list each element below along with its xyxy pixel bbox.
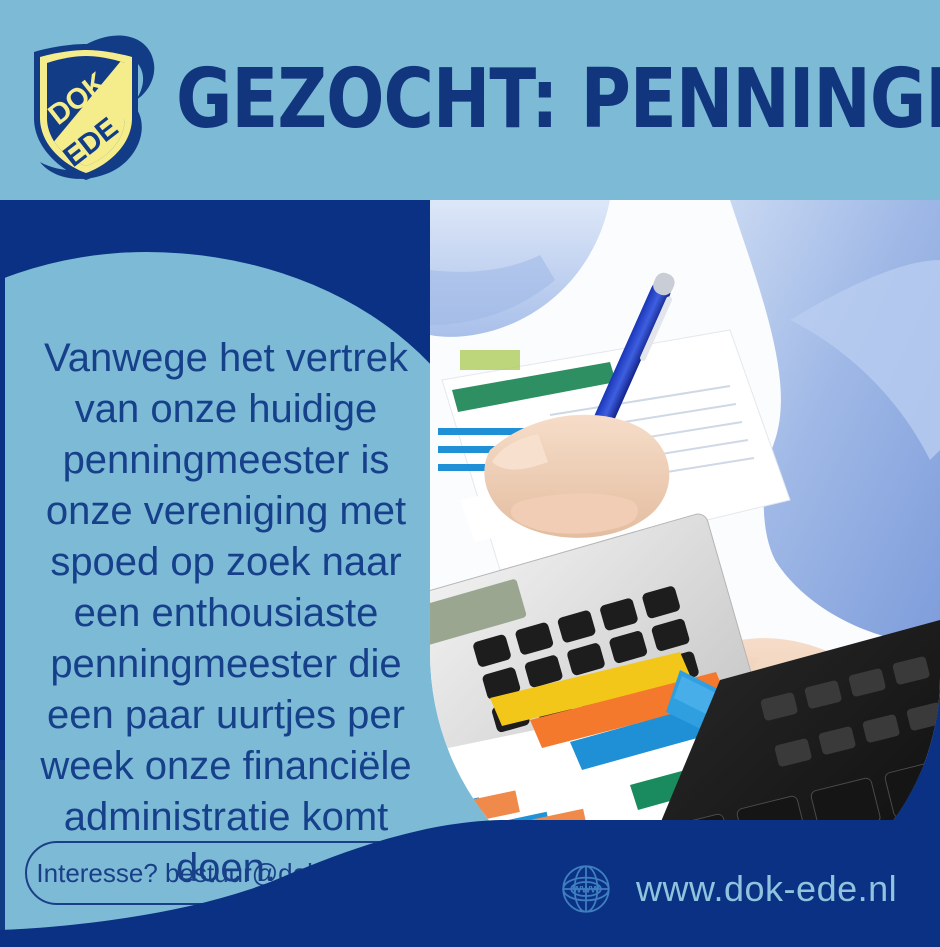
globe-www-label: WWW [572, 885, 600, 896]
dok-ede-shield-logo: DOK EDE [18, 22, 168, 187]
left-edge-accent-lower [0, 760, 5, 947]
contact-pill-button[interactable]: Interesse? bestuur@dok-ede.nl [25, 841, 411, 905]
content-area: X Z Alt Vanwege het vertrek van onze hui… [0, 200, 940, 947]
website-url[interactable]: www.dok-ede.nl [636, 868, 897, 910]
page-title: GEZOCHT: PENNINGMEESTER [176, 44, 883, 162]
shield-logo-svg: DOK EDE [18, 22, 168, 187]
globe-www-icon: WWW [558, 861, 614, 917]
header-bar: DOK EDE GEZOCHT: PENNINGMEESTER [0, 0, 940, 200]
pitch-paragraph: Vanwege het vertrek van onze huidige pen… [16, 333, 436, 894]
office-finance-photo: X Z Alt [430, 200, 940, 920]
poster: DOK EDE GEZOCHT: PENNINGMEESTER [0, 0, 940, 947]
photo-svg: X Z Alt [430, 200, 940, 920]
footer: WWW www.dok-ede.nl [558, 861, 897, 917]
contact-pill-label: Interesse? bestuur@dok-ede.nl [36, 858, 399, 889]
